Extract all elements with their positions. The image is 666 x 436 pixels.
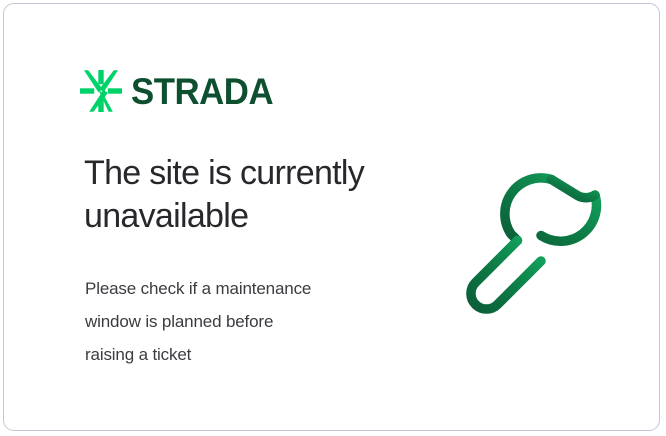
page-title: The site is currently unavailable <box>84 152 424 238</box>
page-description: Please check if a maintenance window is … <box>85 272 405 371</box>
brand-logo: STRADA <box>80 70 282 112</box>
description-line: raising a ticket <box>85 338 405 371</box>
brand-wordmark: STRADA <box>131 73 273 110</box>
error-page: STRADA The site is currently unavailable… <box>0 0 666 436</box>
status-card: STRADA The site is currently unavailable… <box>3 3 660 431</box>
description-line: window is planned before <box>85 305 405 338</box>
wrench-icon <box>456 156 622 322</box>
strada-asterisk-icon <box>80 70 122 112</box>
description-line: Please check if a maintenance <box>85 272 405 305</box>
